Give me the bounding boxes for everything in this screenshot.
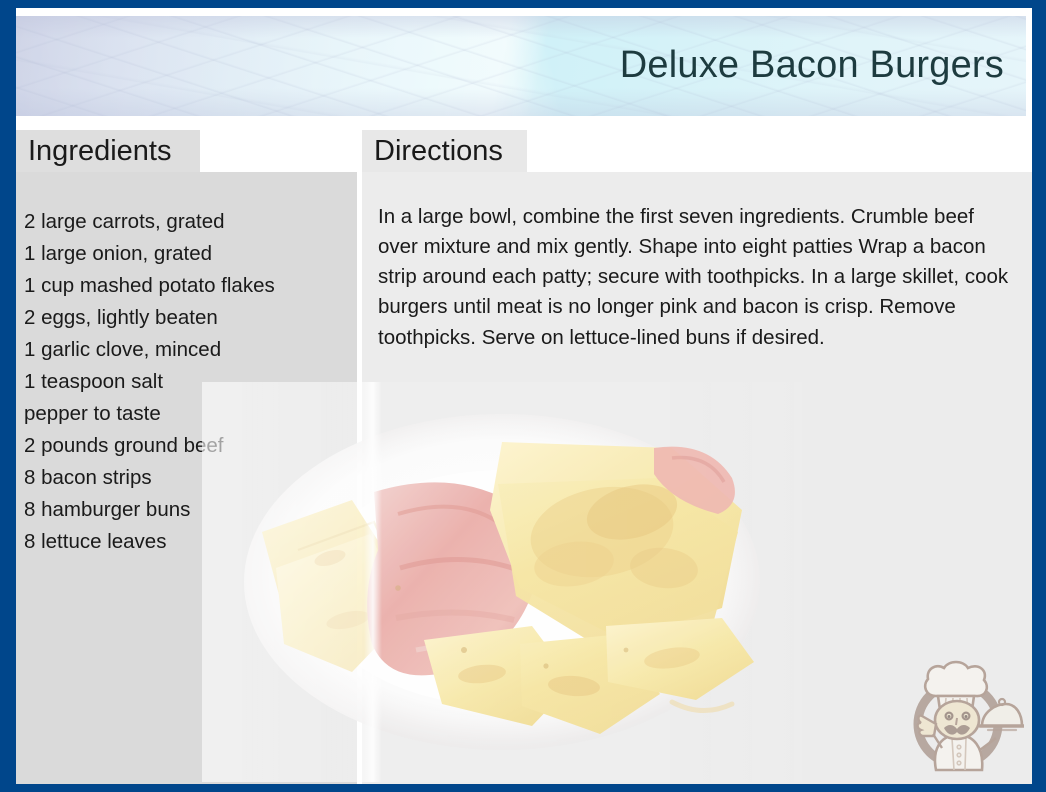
ingredients-list: 2 large carrots, grated1 large onion, gr… bbox=[24, 208, 357, 561]
tab-directions-label: Directions bbox=[374, 137, 503, 166]
page-title: Deluxe Bacon Burgers bbox=[620, 45, 1004, 87]
tab-directions[interactable]: Directions bbox=[362, 130, 527, 172]
ingredient-item: 2 eggs, lightly beaten bbox=[24, 304, 357, 336]
ingredient-item: 1 garlic clove, minced bbox=[24, 336, 357, 368]
ingredient-item: 2 large carrots, grated bbox=[24, 208, 357, 240]
directions-panel: In a large bowl, combine the first seven… bbox=[362, 172, 1032, 784]
directions-text: In a large bowl, combine the first seven… bbox=[378, 202, 1018, 353]
tab-ingredients[interactable]: Ingredients bbox=[16, 130, 200, 172]
ingredients-panel: 2 large carrots, grated1 large onion, gr… bbox=[16, 172, 357, 784]
tab-ingredients-label: Ingredients bbox=[28, 137, 172, 166]
ingredient-item: 8 bacon strips bbox=[24, 464, 357, 496]
ingredient-item: pepper to taste bbox=[24, 400, 357, 432]
ingredient-item: 8 lettuce leaves bbox=[24, 528, 357, 560]
header-banner: Deluxe Bacon Burgers bbox=[16, 16, 1026, 116]
ingredient-item: 2 pounds ground beef bbox=[24, 432, 357, 464]
ingredient-item: 8 hamburger buns bbox=[24, 496, 357, 528]
recipe-card-inner: Deluxe Bacon Burgers Ingredients Directi… bbox=[16, 8, 1032, 784]
ingredient-item: 1 teaspoon salt bbox=[24, 368, 357, 400]
recipe-card: Deluxe Bacon Burgers Ingredients Directi… bbox=[0, 0, 1046, 792]
ingredient-item: 1 cup mashed potato flakes bbox=[24, 272, 357, 304]
ingredient-item: 1 large onion, grated bbox=[24, 240, 357, 272]
